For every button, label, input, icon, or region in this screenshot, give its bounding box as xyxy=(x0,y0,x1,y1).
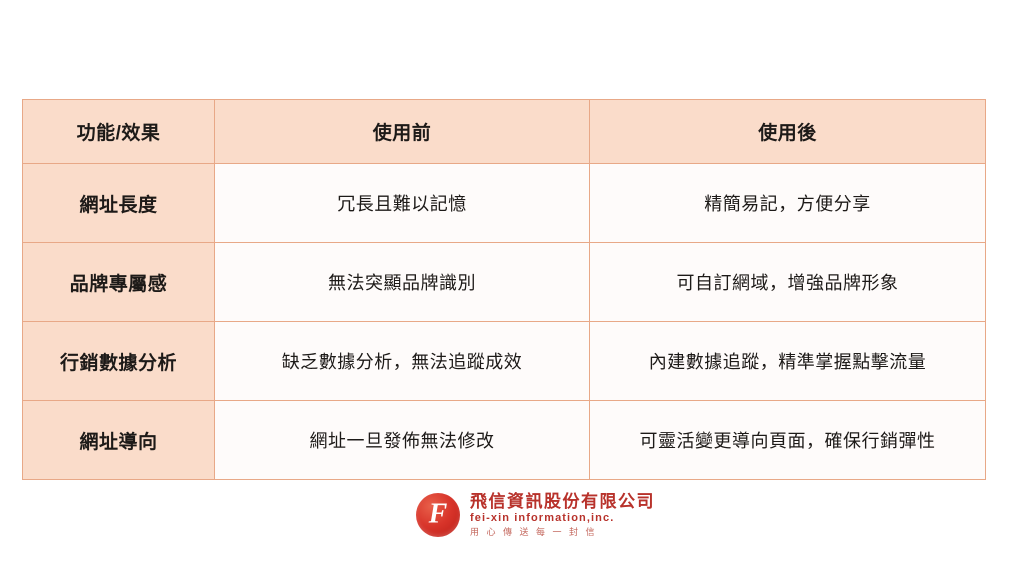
cell-after: 內建數據追蹤，精準掌握點擊流量 xyxy=(590,322,986,401)
cell-feature: 行銷數據分析 xyxy=(23,322,215,401)
table-header-row: 功能/效果 使用前 使用後 xyxy=(23,100,986,164)
column-header-before: 使用前 xyxy=(215,100,590,164)
logo-slogan: 用心傳送每一封信 xyxy=(470,528,655,537)
cell-after: 可自訂網域，增強品牌形象 xyxy=(590,243,986,322)
column-header-feature: 功能/效果 xyxy=(23,100,215,164)
comparison-table-container: 功能/效果 使用前 使用後 網址長度 冗長且難以記憶 精簡易記，方便分享 品牌專… xyxy=(22,99,985,480)
column-header-after: 使用後 xyxy=(590,100,986,164)
logo-text-block: 飛信資訊股份有限公司 fei-xin information,inc. 用心傳送… xyxy=(470,493,655,537)
table-row: 行銷數據分析 缺乏數據分析，無法追蹤成效 內建數據追蹤，精準掌握點擊流量 xyxy=(23,322,986,401)
cell-feature: 網址長度 xyxy=(23,164,215,243)
table-row: 網址長度 冗長且難以記憶 精簡易記，方便分享 xyxy=(23,164,986,243)
table-row: 網址導向 網址一旦發佈無法修改 可靈活變更導向頁面，確保行銷彈性 xyxy=(23,401,986,480)
company-logo: F 飛信資訊股份有限公司 fei-xin information,inc. 用心… xyxy=(416,493,655,537)
table-body: 網址長度 冗長且難以記憶 精簡易記，方便分享 品牌專屬感 無法突顯品牌識別 可自… xyxy=(23,164,986,480)
table-header: 功能/效果 使用前 使用後 xyxy=(23,100,986,164)
logo-company-name-cn: 飛信資訊股份有限公司 xyxy=(470,493,655,510)
cell-before: 冗長且難以記憶 xyxy=(215,164,590,243)
cell-feature: 品牌專屬感 xyxy=(23,243,215,322)
logo-letter-f: F xyxy=(416,500,460,528)
comparison-table: 功能/效果 使用前 使用後 網址長度 冗長且難以記憶 精簡易記，方便分享 品牌專… xyxy=(22,99,986,480)
slide-canvas: 功能/效果 使用前 使用後 網址長度 冗長且難以記憶 精簡易記，方便分享 品牌專… xyxy=(0,0,1024,576)
table-row: 品牌專屬感 無法突顯品牌識別 可自訂網域，增強品牌形象 xyxy=(23,243,986,322)
cell-feature: 網址導向 xyxy=(23,401,215,480)
cell-after: 可靈活變更導向頁面，確保行銷彈性 xyxy=(590,401,986,480)
cell-before: 無法突顯品牌識別 xyxy=(215,243,590,322)
logo-company-name-en: fei-xin information,inc. xyxy=(470,513,655,524)
cell-before: 網址一旦發佈無法修改 xyxy=(215,401,590,480)
cell-before: 缺乏數據分析，無法追蹤成效 xyxy=(215,322,590,401)
logo-badge-icon: F xyxy=(416,493,460,537)
cell-after: 精簡易記，方便分享 xyxy=(590,164,986,243)
